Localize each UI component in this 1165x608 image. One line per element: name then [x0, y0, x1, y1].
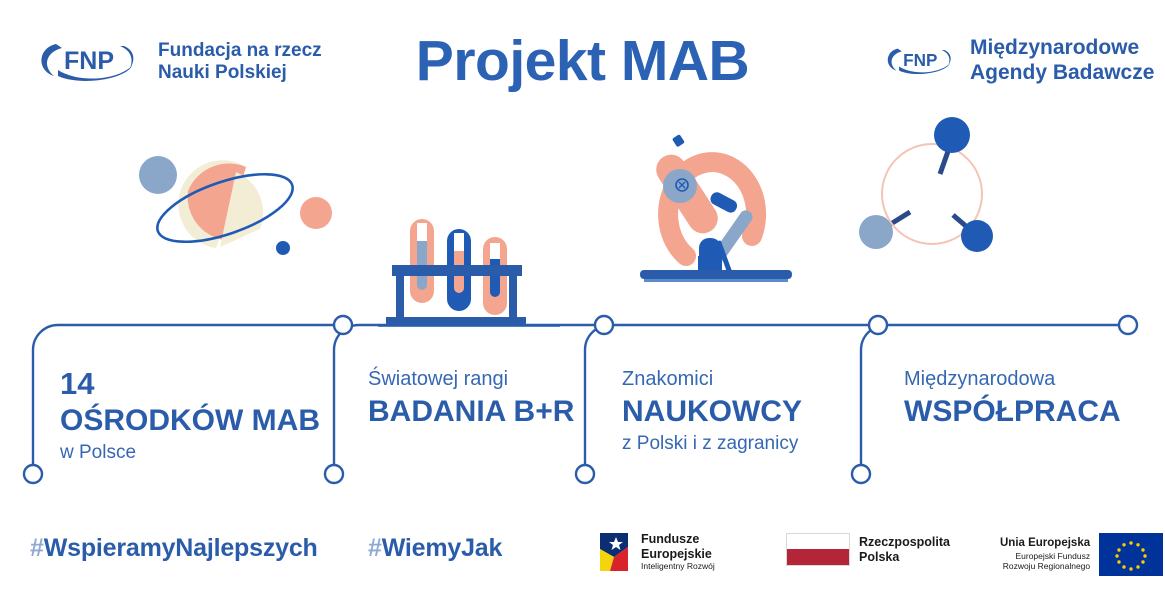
stat-headline-3: NAUKOWCY — [622, 393, 802, 431]
hashtag-label-2: WiemyJak — [382, 534, 502, 562]
stat-pretext-2: Światowej rangi — [368, 366, 574, 393]
hash-symbol-1: # — [30, 534, 44, 562]
flag-white-stripe — [787, 534, 849, 549]
stat-pretext-4: Międzynarodowa — [904, 366, 1121, 393]
rzeczpospolita-polska-text: Rzeczpospolita Polska — [859, 535, 950, 564]
hash-symbol-2: # — [368, 534, 382, 562]
unia-europejska-logo: Unia Europejska Europejski Fundusz Rozwo… — [1000, 533, 1163, 576]
stat-column-3: Znakomici NAUKOWCY z Polski i z zagranic… — [622, 366, 802, 457]
ue-line3: Rozwoju Regionalnego — [1000, 561, 1090, 571]
stat-column-4: Międzynarodowa WSPÓŁPRACA — [904, 366, 1121, 431]
fnp-right-line1: Międzynarodowe — [970, 36, 1154, 61]
fundusze-europejskie-icon — [596, 531, 632, 573]
unia-europejska-text: Unia Europejska Europejski Fundusz Rozwo… — [1000, 537, 1090, 571]
stat-column-1: 14 OŚRODKÓW MAB w Polsce — [60, 366, 320, 466]
hashtag-label-1: WspieramyNajlepszych — [44, 534, 318, 562]
stat-headline-1: OŚRODKÓW MAB — [60, 402, 320, 440]
stat-subtext-1: w Polsce — [60, 440, 320, 466]
fundusze-europejskie-logo: Fundusze Europejskie Inteligentny Rozwój — [596, 531, 715, 573]
fe-line1: Fundusze — [641, 532, 715, 547]
stat-headline-2: BADANIA B+R — [368, 393, 574, 431]
infographic-canvas: FNP Fundacja na rzecz Nauki Polskiej Pro… — [0, 0, 1165, 608]
hashtag-wiemyjak: #WiemyJak — [368, 534, 502, 563]
svg-text:FNP: FNP — [903, 51, 937, 70]
stat-subtext-3: z Polski i z zagranicy — [622, 431, 802, 457]
molecule-illustration — [848, 112, 1030, 272]
rp-line1: Rzeczpospolita — [859, 535, 950, 550]
rp-line2: Polska — [859, 550, 950, 565]
fnp-right-line2: Agendy Badawcze — [970, 61, 1154, 86]
stat-column-2: Światowej rangi BADANIA B+R — [368, 366, 574, 431]
flag-red-stripe — [787, 549, 849, 565]
stat-number-1: 14 — [60, 366, 320, 402]
fnp-logo-right: FNP Międzynarodowe Agendy Badawcze — [884, 36, 1154, 86]
polish-flag-icon — [786, 533, 850, 566]
eu-flag-icon — [1099, 533, 1163, 576]
ue-line2: Europejski Fundusz — [1000, 551, 1090, 561]
planet-illustration — [128, 136, 360, 276]
stat-headline-4: WSPÓŁPRACA — [904, 393, 1121, 431]
ue-line1: Unia Europejska — [1000, 537, 1090, 551]
microscope-illustration — [630, 128, 822, 290]
fe-line2: Europejskie — [641, 547, 715, 562]
fe-line3: Inteligentny Rozwój — [641, 562, 715, 572]
stat-pretext-3: Znakomici — [622, 366, 802, 393]
fundusze-europejskie-text: Fundusze Europejskie Inteligentny Rozwój — [641, 532, 715, 572]
fnp-mab-logo-icon: FNP — [884, 41, 958, 81]
fnp-logo-right-text: Międzynarodowe Agendy Badawcze — [970, 36, 1154, 86]
hashtag-wspieramynajlepszych: #WspieramyNajlepszych — [30, 534, 318, 563]
rzeczpospolita-polska-logo: Rzeczpospolita Polska — [786, 533, 950, 566]
